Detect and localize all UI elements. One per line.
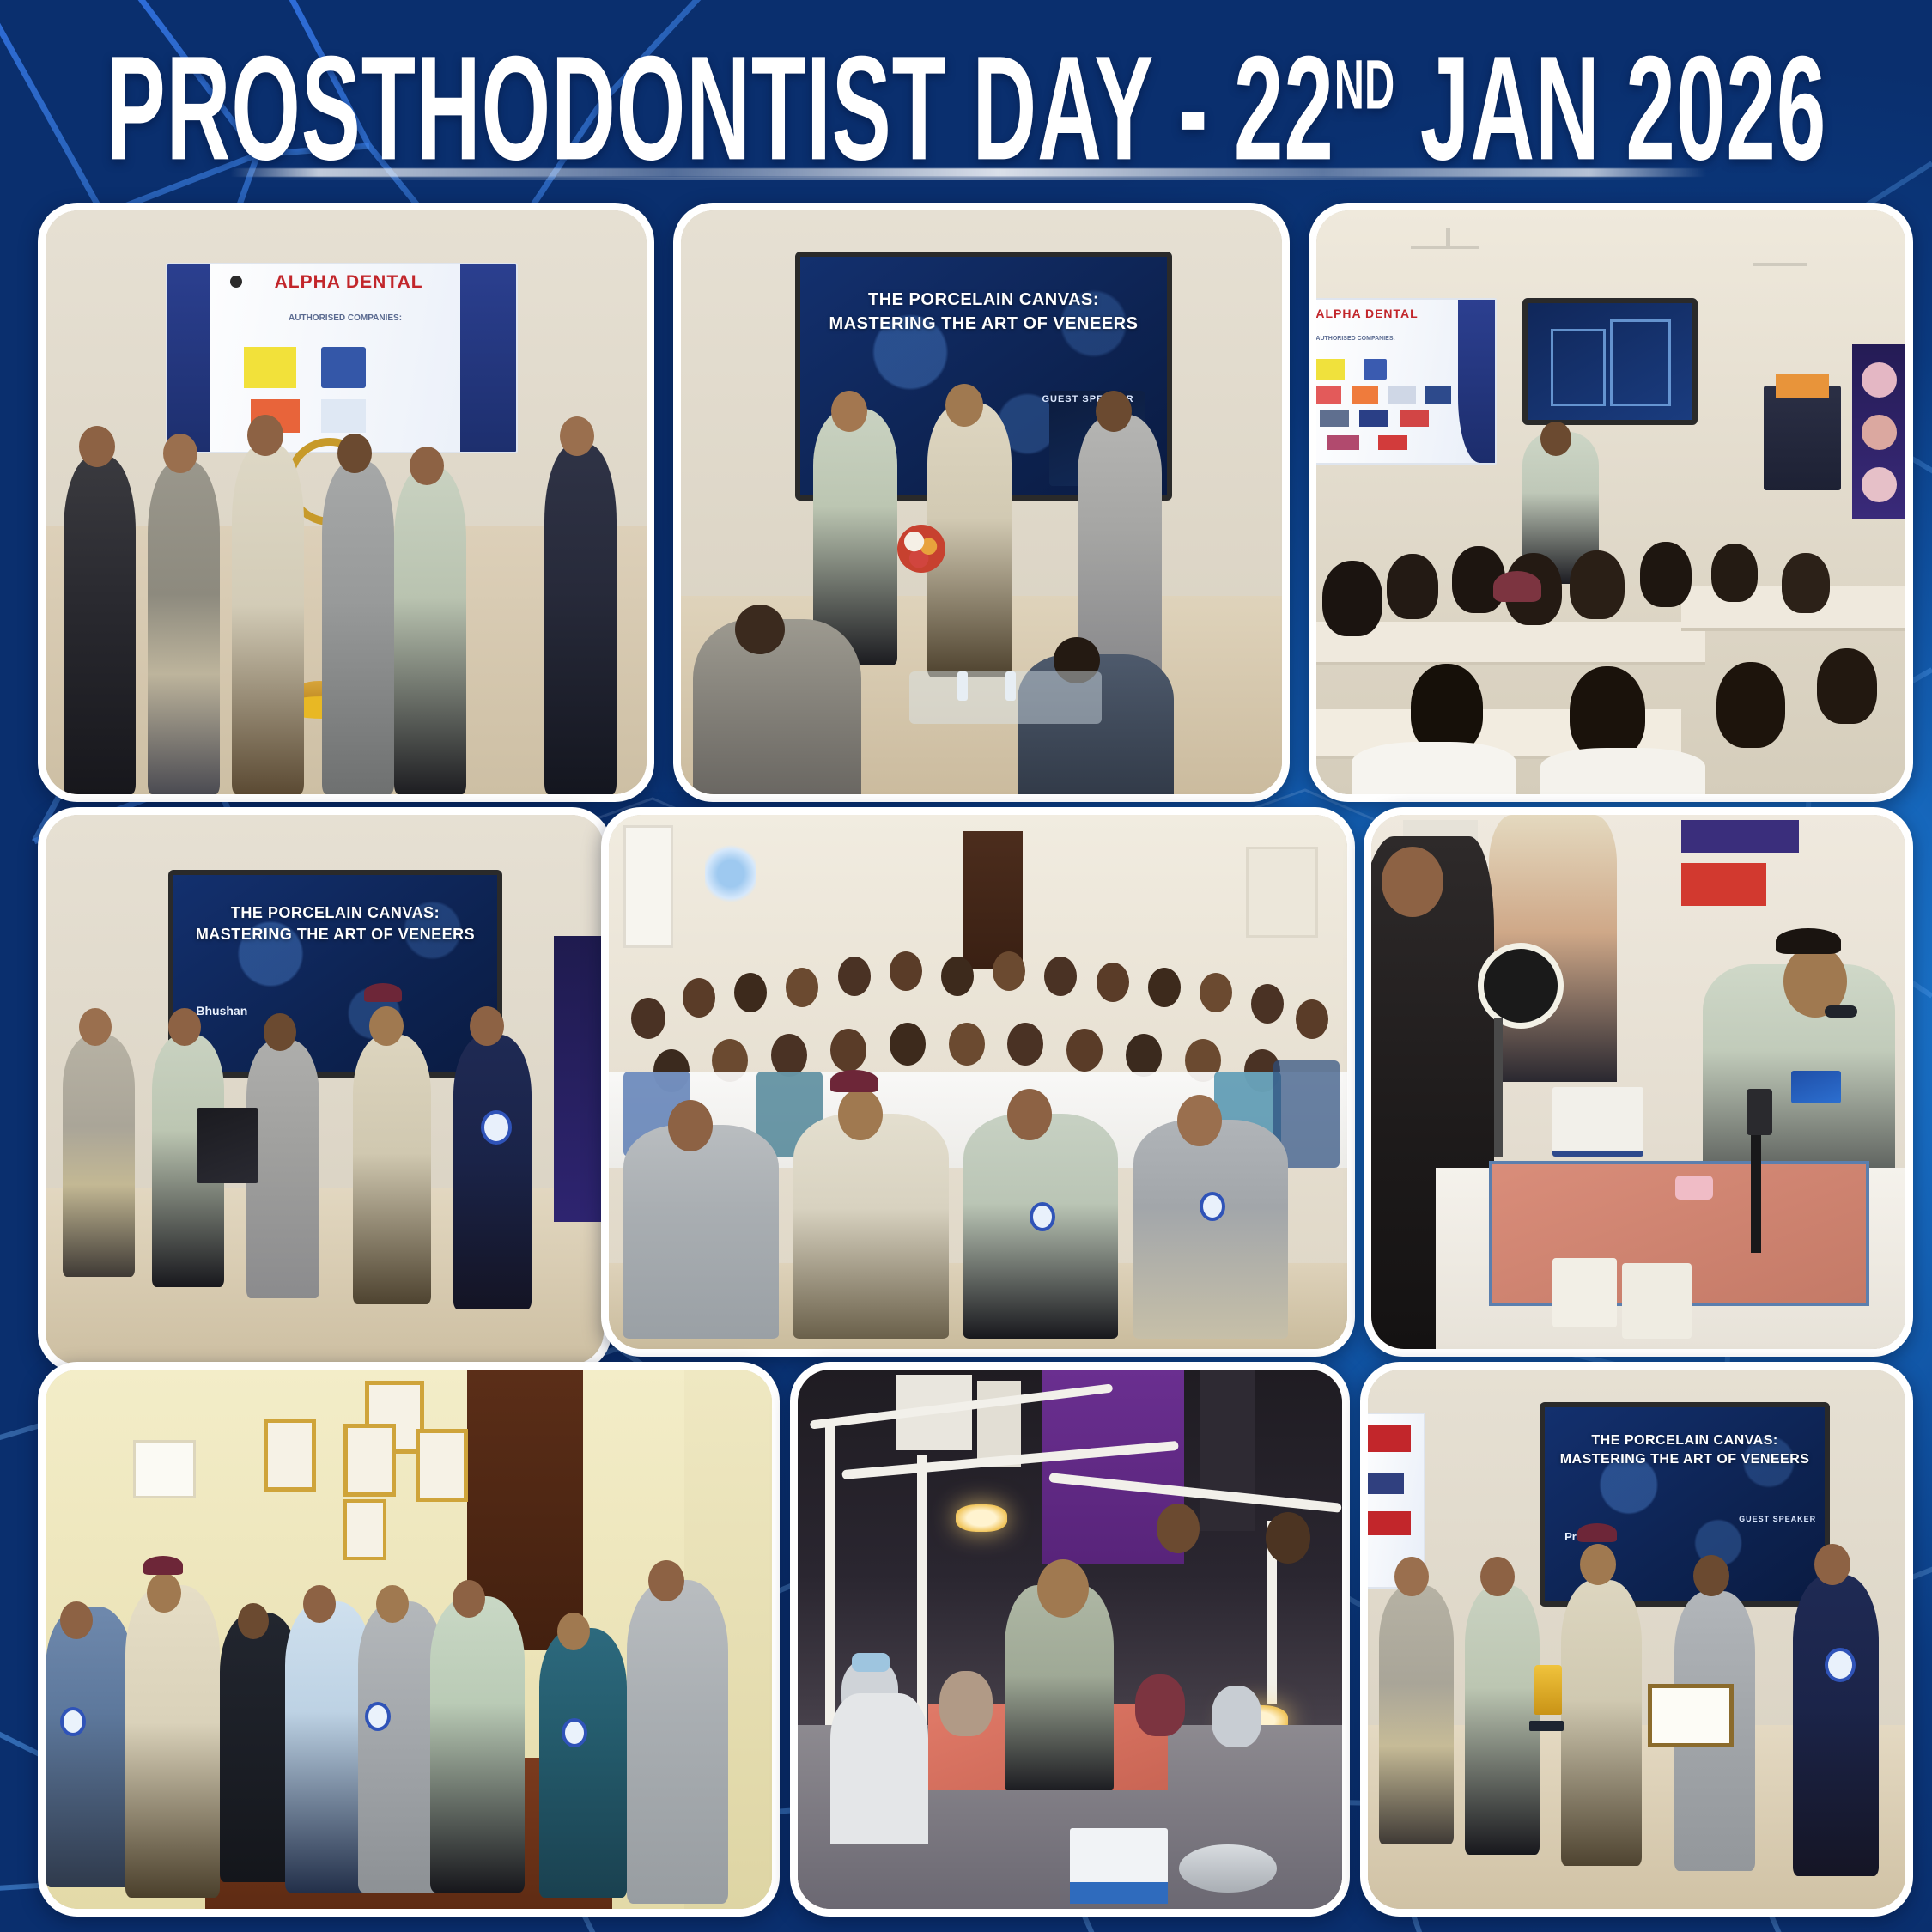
poster-canvas: PROSTHODONTIST DAY - 22ND JAN 2026 ALPHA… xyxy=(0,0,1932,1932)
memento-slide-line-2: MASTERING THE ART OF VENEERS xyxy=(196,926,475,945)
photo-workshop-scene xyxy=(798,1370,1342,1909)
photo-live-demo-scene xyxy=(1371,815,1905,1349)
poster-title-wrap: PROSTHODONTIST DAY - 22ND JAN 2026 xyxy=(0,45,1932,173)
photo-group-photograph[interactable] xyxy=(601,807,1355,1357)
photo-award-presentation[interactable]: THE PORCELAIN CANVAS: MASTERING THE ART … xyxy=(1360,1362,1913,1917)
slide-line-2: MASTERING THE ART OF VENEERS xyxy=(829,313,1139,334)
photo-guest-speaker-felicitation[interactable]: THE PORCELAIN CANVAS: MASTERING THE ART … xyxy=(673,203,1290,802)
title-underline xyxy=(230,168,1707,177)
photo-lecture-hall-audience[interactable]: ALPHA DENTAL AUTHORISED COMPANIES: xyxy=(1309,203,1913,802)
photo-collage-grid: ALPHA DENTAL AUTHORISED COMPANIES: xyxy=(0,0,1932,1932)
award-trophy xyxy=(1534,1665,1562,1715)
photo-memento-scene: THE PORCELAIN CANVAS: MASTERING THE ART … xyxy=(46,815,604,1364)
photo-felicitation-scene: THE PORCELAIN CANVAS: MASTERING THE ART … xyxy=(681,210,1282,794)
memento-slide-line-1: THE PORCELAIN CANVAS: xyxy=(231,904,440,923)
photo-award-scene: THE PORCELAIN CANVAS: MASTERING THE ART … xyxy=(1368,1370,1905,1909)
page-title-main: PROSTHODONTIST DAY - 22 xyxy=(106,26,1334,191)
photo-cake-cutting-scene xyxy=(46,1370,772,1909)
banner-subtitle: AUTHORISED COMPANIES: xyxy=(237,313,453,323)
alpha-dental-banner: ALPHA DENTAL AUTHORISED COMPANIES: xyxy=(166,263,518,453)
photo-lecture-hall-scene: ALPHA DENTAL AUTHORISED COMPANIES: xyxy=(1316,210,1905,794)
award-slide-guest-label: GUEST SPEAKER xyxy=(1739,1515,1816,1523)
banner-title: ALPHA DENTAL xyxy=(244,272,453,293)
page-title-ordinal: ND xyxy=(1334,46,1394,124)
slide-line-1: THE PORCELAIN CANVAS: xyxy=(868,289,1099,310)
memento-slide-speaker: Bhushan xyxy=(196,1004,247,1018)
photo-live-demonstration[interactable] xyxy=(1364,807,1913,1357)
page-title-tail: JAN 2026 xyxy=(1394,26,1826,191)
speaker-id-badge xyxy=(1791,1071,1841,1103)
photo-lamp-lighting[interactable]: ALPHA DENTAL AUTHORISED COMPANIES: xyxy=(38,203,654,802)
photo-hands-on-workshop[interactable] xyxy=(790,1362,1350,1917)
photo-group-scene xyxy=(609,815,1347,1349)
photo-lamp-lighting-scene: ALPHA DENTAL AUTHORISED COMPANIES: xyxy=(46,210,647,794)
photo-memento-presentation[interactable]: THE PORCELAIN CANVAS: MASTERING THE ART … xyxy=(38,807,611,1372)
award-slide-line-1: THE PORCELAIN CANVAS: xyxy=(1591,1432,1777,1449)
page-title: PROSTHODONTIST DAY - 22ND JAN 2026 xyxy=(106,35,1826,184)
appreciation-certificate xyxy=(1648,1684,1734,1747)
photo-cake-cutting-ceremony[interactable] xyxy=(38,1362,780,1917)
award-slide-line-2: MASTERING THE ART OF VENEERS xyxy=(1560,1451,1810,1468)
title-underline-secondary xyxy=(258,177,1666,180)
